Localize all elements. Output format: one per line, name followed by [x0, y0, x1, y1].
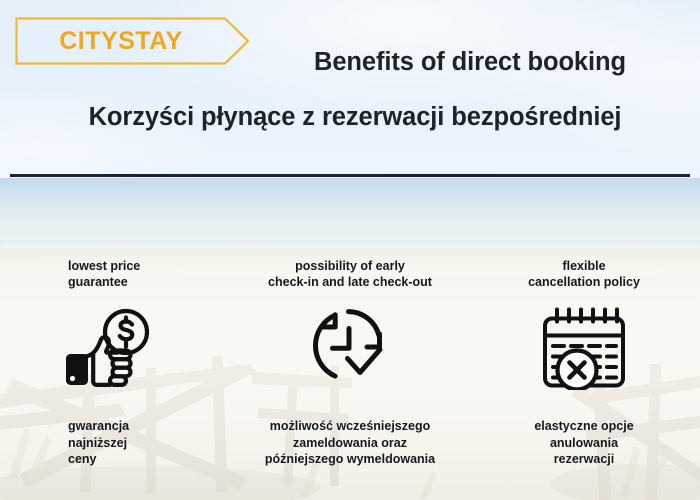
benefit-icon-slot: [20, 306, 220, 394]
benefit-title-english: possibility of early check-in and late c…: [228, 258, 472, 290]
benefit-caption-polish: gwarancja najniższej ceny: [20, 418, 220, 468]
benefit-column-flexible-cancellation: flexible cancellation policy: [478, 178, 690, 500]
benefit-caption-line3: ceny: [68, 452, 97, 466]
benefit-caption-line1: elastyczne opcje: [534, 419, 633, 433]
benefit-icon-slot: [478, 306, 690, 390]
brand-logo[interactable]: CITYSTAY: [15, 17, 250, 65]
infographic-poster: CITYSTAY Benefits of direct booking Korz…: [0, 0, 700, 500]
benefit-caption-line3: rezerwacji: [554, 452, 614, 466]
benefit-column-early-checkin: possibility of early check-in and late c…: [228, 178, 472, 500]
benefit-title-line2: check-in and late check-out: [268, 275, 432, 289]
benefit-icon-slot: [228, 306, 472, 388]
brand-logo-text: CITYSTAY: [15, 17, 227, 65]
clock-arrow-check-icon: [310, 306, 390, 388]
calendar-cancel-icon: [540, 306, 628, 390]
benefit-caption-line1: możliwość wcześniejszego: [270, 419, 430, 433]
header-divider: [10, 174, 690, 177]
benefit-title-english: flexible cancellation policy: [478, 258, 690, 290]
benefit-caption-line3: późniejszego wymeldowania: [265, 452, 435, 466]
benefit-caption-line2: anulowania: [550, 436, 618, 450]
benefit-title-line1: flexible: [562, 259, 605, 273]
page-title-polish: Korzyści płynące z rezerwacji bezpośredn…: [35, 103, 675, 132]
benefit-title-line2: cancellation policy: [528, 275, 640, 289]
page-title-english: Benefits of direct booking: [250, 48, 690, 77]
benefit-title-line1: lowest price: [68, 259, 140, 273]
benefit-title-line1: possibility of early: [295, 259, 405, 273]
benefits-columns: lowest price guarantee: [0, 178, 700, 500]
benefit-title-line2: guarantee: [68, 275, 128, 289]
benefit-caption-polish: możliwość wcześniejszego zameldowania or…: [228, 418, 472, 468]
benefit-caption-line2: zameldowania oraz: [293, 436, 407, 450]
benefit-column-lowest-price: lowest price guarantee: [20, 178, 220, 500]
benefit-caption-polish: elastyczne opcje anulowania rezerwacji: [478, 418, 690, 468]
thumbs-up-dollar-icon: [60, 306, 152, 394]
benefit-title-english: lowest price guarantee: [20, 258, 220, 290]
benefit-caption-line2: najniższej: [68, 436, 127, 450]
benefit-caption-line1: gwarancja: [68, 419, 129, 433]
